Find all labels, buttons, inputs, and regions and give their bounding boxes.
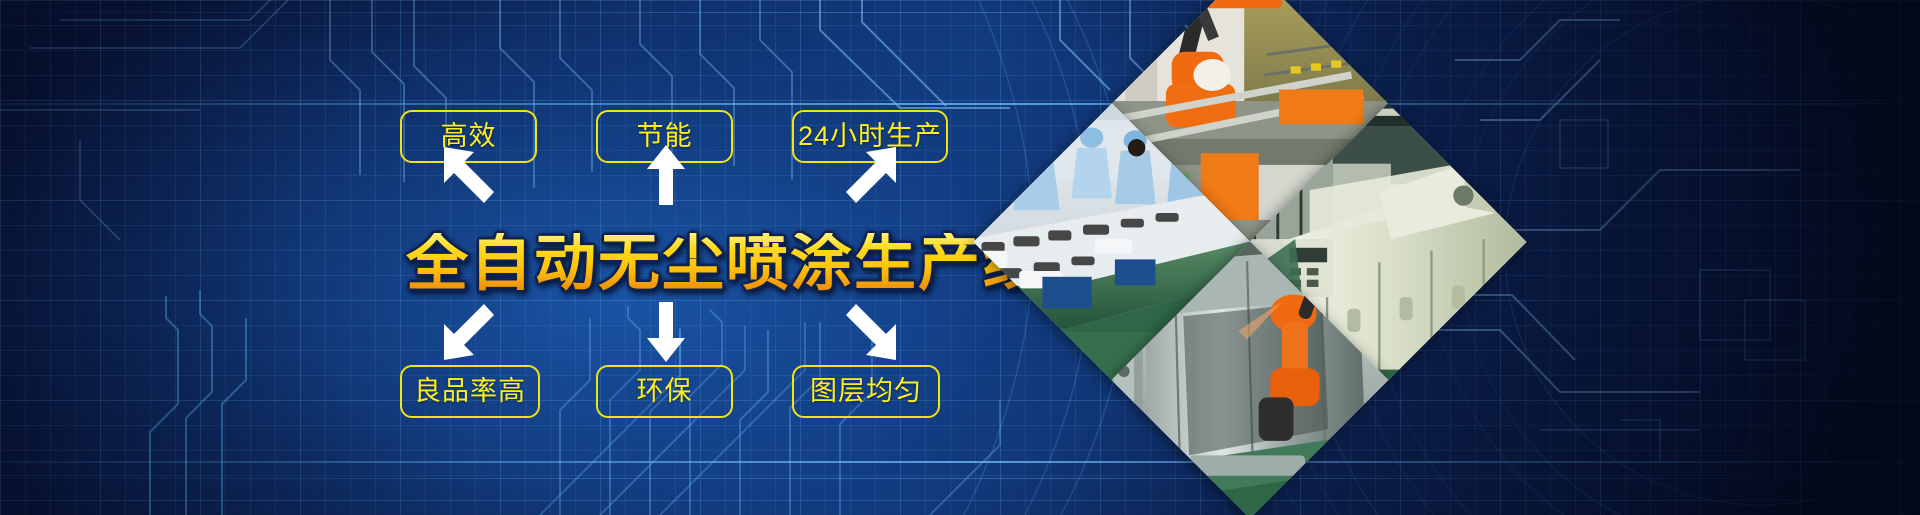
arrow-up-left-icon xyxy=(440,143,500,207)
badge-bottom-1-label: 良品率高 xyxy=(414,378,526,405)
arrow-down-right-icon xyxy=(840,300,900,364)
promo-banner: 高效 节能 24小时生产 良品率高 环保 图层均匀 xyxy=(0,0,1920,515)
page-title: 全自动无尘喷涂生产线 xyxy=(406,233,1046,295)
badge-bottom-1[interactable]: 良品率高 xyxy=(400,365,540,418)
banner-content: 高效 节能 24小时生产 良品率高 环保 图层均匀 xyxy=(0,0,1020,515)
arrow-up-right-icon xyxy=(840,143,900,207)
arrow-up-icon xyxy=(645,143,687,207)
badge-bottom-3-label: 图层均匀 xyxy=(810,378,922,405)
arrow-down-icon xyxy=(645,300,687,364)
badge-bottom-2[interactable]: 环保 xyxy=(596,365,733,418)
arrow-down-left-icon xyxy=(440,300,500,364)
photo-collage xyxy=(1048,40,1453,455)
badge-bottom-3[interactable]: 图层均匀 xyxy=(792,365,940,418)
badge-bottom-2-label: 环保 xyxy=(637,378,693,405)
